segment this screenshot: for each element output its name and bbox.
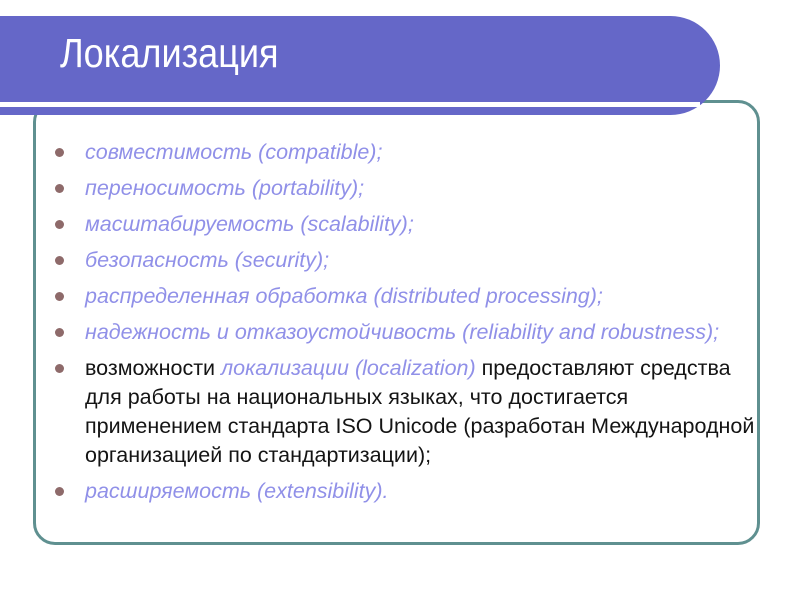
- bullet-dot-icon: [55, 220, 64, 229]
- list-item: безопасность (security);: [55, 246, 755, 275]
- list-item-label: переносимость (portability);: [85, 174, 755, 203]
- list-item: расширяемость (extensibility).: [55, 477, 755, 506]
- list-item-localization: возможности локализации (localization) п…: [55, 354, 755, 470]
- list-item-label: возможности локализации (localization) п…: [85, 354, 755, 470]
- title-divider: [0, 102, 700, 107]
- bullet-dot-icon: [55, 364, 64, 373]
- list-item-label: надежность и отказоустойчивость (reliabi…: [85, 318, 755, 347]
- bullet-dot-icon: [55, 148, 64, 157]
- bullet-dot-icon: [55, 184, 64, 193]
- bullet-dot-icon: [55, 487, 64, 496]
- list-item-lead: возможности: [85, 356, 221, 380]
- list-item-label: масштабируемость (scalability);: [85, 210, 755, 239]
- list-item: распределенная обработка (distributed pr…: [55, 282, 755, 311]
- list-item-label: распределенная обработка (distributed pr…: [85, 282, 755, 311]
- bullet-dot-icon: [55, 328, 64, 337]
- bullet-dot-icon: [55, 292, 64, 301]
- list-item: переносимость (portability);: [55, 174, 755, 203]
- list-item: совместимость (compatible);: [55, 138, 755, 167]
- bullet-list: совместимость (compatible); переносимост…: [55, 138, 755, 513]
- list-item-highlight: локализации (localization): [221, 356, 476, 380]
- page-title: Локализация: [60, 30, 279, 77]
- list-item-label: безопасность (security);: [85, 246, 755, 275]
- bullet-dot-icon: [55, 256, 64, 265]
- list-item: масштабируемость (scalability);: [55, 210, 755, 239]
- list-item-label: совместимость (compatible);: [85, 138, 755, 167]
- slide: Локализация совместимость (compatible); …: [0, 0, 800, 600]
- list-item-label: расширяемость (extensibility).: [85, 477, 755, 506]
- list-item: надежность и отказоустойчивость (reliabi…: [55, 318, 755, 347]
